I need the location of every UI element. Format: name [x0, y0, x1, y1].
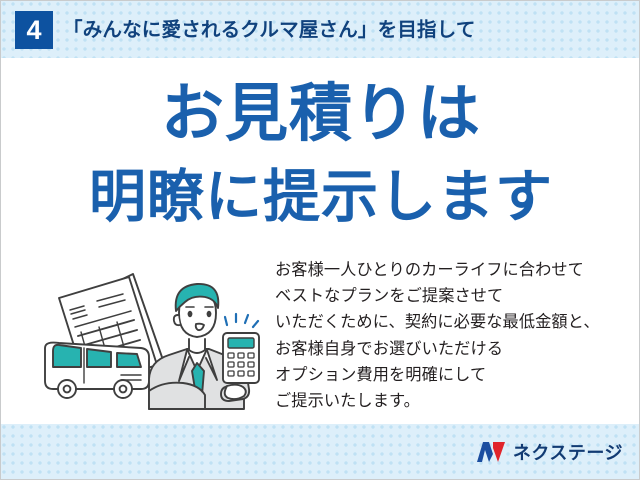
calculator-illustration: [223, 333, 259, 383]
van-illustration: [45, 343, 149, 398]
body-copy-line: オプション費用を明確にして: [275, 362, 627, 388]
illustration-svg: [37, 253, 277, 423]
headline-line-1: お見積りは: [1, 77, 640, 146]
nextage-n-mark-icon: [476, 441, 506, 463]
headline-line-2: 明瞭に提示します: [1, 146, 640, 226]
footer-band: ネクステージ: [1, 424, 640, 479]
header-title: 「みんなに愛されるクルマ屋さん」を目指して: [63, 13, 476, 47]
body-copy-line: お客様一人ひとりのカーライフに合わせて: [275, 257, 627, 283]
body-copy: お客様一人ひとりのカーライフに合わせて ベストなプランをご提案させて いただくた…: [275, 257, 627, 414]
body-copy-line: ご提示いたします。: [275, 388, 627, 414]
body-copy-line: いただくために、契約に必要な最低金額と、: [275, 309, 627, 335]
step-number-badge: 4: [15, 11, 53, 49]
headline: お見積りは 明瞭に提示します: [1, 77, 640, 226]
header-band: 4 「みんなに愛されるクルマ屋さん」を目指して: [1, 1, 640, 58]
salesman-illustration: [37, 253, 277, 423]
brand-name: ネクステージ: [513, 439, 623, 465]
body-copy-line: お客様自身でお選びいただける: [275, 336, 627, 362]
body-copy-line: ベストなプランをご提案させて: [275, 283, 627, 309]
brand-logo: ネクステージ: [476, 439, 623, 465]
sparkle-icon: [225, 314, 258, 327]
advertisement-banner: 4 「みんなに愛されるクルマ屋さん」を目指して お見積りは 明瞭に提示します お…: [0, 0, 640, 480]
